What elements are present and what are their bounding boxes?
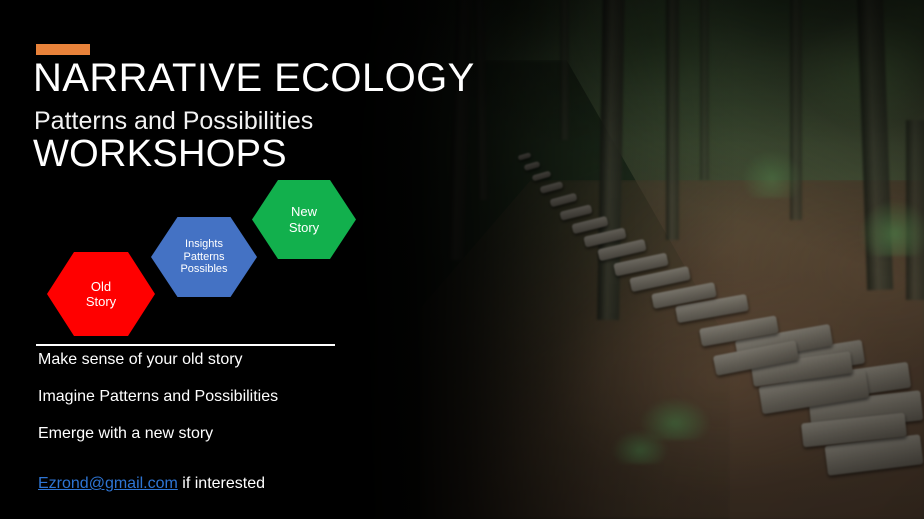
hexagon-new-story: New Story bbox=[252, 180, 356, 259]
contact-footer: Ezrond@gmail.com if interested bbox=[38, 475, 265, 493]
page-title: NARRATIVE ECOLOGY bbox=[33, 57, 475, 99]
hexagon-new-story-line-2: Story bbox=[289, 220, 319, 235]
page-subtitle: Patterns and Possibilities bbox=[34, 108, 313, 134]
list-item: Emerge with a new story bbox=[38, 426, 358, 442]
email-link[interactable]: Ezrond@gmail.com bbox=[38, 475, 178, 492]
horizontal-divider bbox=[36, 344, 335, 346]
hexagon-old-story-line-2: Story bbox=[86, 294, 116, 309]
list-item: Make sense of your old story bbox=[38, 352, 358, 368]
hexagon-old-story-line-1: Old bbox=[91, 279, 111, 294]
hexagon-insights-line-1: Insights bbox=[185, 238, 223, 251]
hexagon-insights: Insights Patterns Possibles bbox=[151, 217, 257, 297]
contact-suffix-text: if interested bbox=[178, 475, 265, 492]
orange-accent-bar bbox=[36, 44, 90, 55]
hexagon-insights-line-2: Patterns bbox=[184, 251, 225, 264]
hexagon-new-story-line-1: New bbox=[291, 204, 317, 219]
hexagon-old-story: Old Story bbox=[47, 252, 155, 336]
hexagon-insights-line-3: Possibles bbox=[180, 263, 227, 276]
slide-content: NARRATIVE ECOLOGY Patterns and Possibili… bbox=[0, 0, 924, 519]
bullet-list: Make sense of your old story Imagine Pat… bbox=[38, 352, 358, 463]
presentation-slide: NARRATIVE ECOLOGY Patterns and Possibili… bbox=[0, 0, 924, 519]
page-title-third: WORKSHOPS bbox=[33, 135, 287, 175]
list-item: Imagine Patterns and Possibilities bbox=[38, 389, 358, 405]
